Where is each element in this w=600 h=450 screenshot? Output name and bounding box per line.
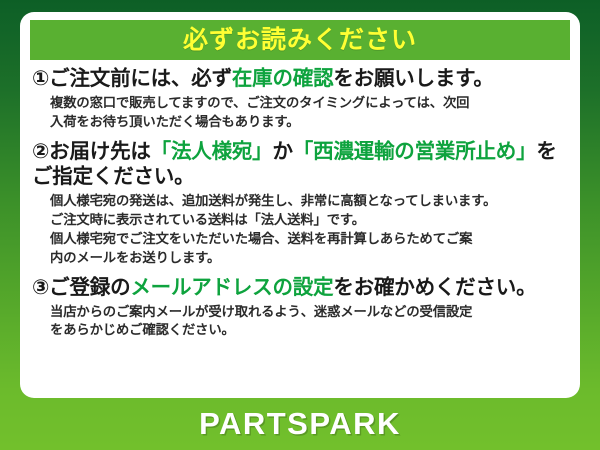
item-2-body-line-3: 個人様宅宛でご注文をいただいた場合、送料を再計算しあらためてご案 xyxy=(50,230,570,249)
item-1-head-part-3: をお願いします。 xyxy=(333,67,493,90)
item-2-head-highlight-2: 「西濃運輸の営業所止め」 xyxy=(293,140,537,163)
header-title: 必ずお読みください xyxy=(183,28,417,53)
item-1-head-part-1: ご注文前には、必ず xyxy=(49,67,232,90)
notice-item-1: ①ご注文前には、必ず在庫の確認をお願いします。 複数の窓口で販売してますので、ご… xyxy=(32,66,570,132)
item-3-body-line-2: をあらかじめご確認ください。 xyxy=(50,321,570,340)
notice-item-3-heading: ③ご登録のメールアドレスの設定をお確かめください。 xyxy=(32,275,570,301)
item-number-2: ② xyxy=(32,140,49,163)
item-1-body-line-2: 入荷をお待ち頂いただく場合もあります。 xyxy=(50,113,570,132)
notice-item-1-body: 複数の窓口で販売してますので、ご注文のタイミングによっては、次回 入荷をお待ち頂… xyxy=(32,94,570,132)
item-2-body-line-2: ご注文時に表示されている送料は「法人送料」です。 xyxy=(50,211,570,230)
notice-banner: 必ずお読みください ①ご注文前には、必ず在庫の確認をお願いします。 複数の窓口で… xyxy=(0,0,600,450)
header-band: 必ずお読みください xyxy=(30,20,570,60)
notice-item-3-body: 当店からのご案内メールが受け取れるよう、迷惑メールなどの受信設定 をあらかじめご… xyxy=(32,303,570,341)
item-1-head-highlight: 在庫の確認 xyxy=(232,67,334,90)
notice-item-1-heading: ①ご注文前には、必ず在庫の確認をお願いします。 xyxy=(32,66,570,92)
item-2-body-line-1: 個人様宅宛の発送は、追加送料が発生し、非常に高額となってしまいます。 xyxy=(50,192,570,211)
item-2-body-line-4: 内のメールをお送りします。 xyxy=(50,249,570,268)
partspark-logo: PARTSPARK xyxy=(199,406,401,442)
footer-logo-bar: PARTSPARK xyxy=(0,398,600,450)
item-2-head-part-1: お届け先は xyxy=(49,140,151,163)
item-2-head-part-3: か xyxy=(272,140,292,163)
notice-item-2: ②お届け先は「法人様宛」か「西濃運輸の営業所止め」をご指定ください。 個人様宅宛… xyxy=(32,139,570,268)
item-3-head-highlight: メールアドレスの設定 xyxy=(130,276,333,299)
item-number-3: ③ xyxy=(32,276,49,299)
item-2-head-highlight-1: 「法人様宛」 xyxy=(151,140,273,163)
notice-item-2-body: 個人様宅宛の発送は、追加送料が発生し、非常に高額となってしまいます。 ご注文時に… xyxy=(32,192,570,268)
item-3-body-line-1: 当店からのご案内メールが受け取れるよう、迷惑メールなどの受信設定 xyxy=(50,303,570,322)
notice-card: 必ずお読みください ①ご注文前には、必ず在庫の確認をお願いします。 複数の窓口で… xyxy=(20,12,580,398)
notice-item-list: ①ご注文前には、必ず在庫の確認をお願いします。 複数の窓口で販売してますので、ご… xyxy=(20,60,580,340)
item-3-head-part-1: ご登録の xyxy=(49,276,130,299)
notice-item-3: ③ご登録のメールアドレスの設定をお確かめください。 当店からのご案内メールが受け… xyxy=(32,275,570,341)
item-1-body-line-1: 複数の窓口で販売してますので、ご注文のタイミングによっては、次回 xyxy=(50,94,570,113)
item-3-head-part-3: をお確かめください。 xyxy=(333,276,536,299)
notice-item-2-heading: ②お届け先は「法人様宛」か「西濃運輸の営業所止め」をご指定ください。 xyxy=(32,139,570,191)
item-number-1: ① xyxy=(32,67,49,90)
